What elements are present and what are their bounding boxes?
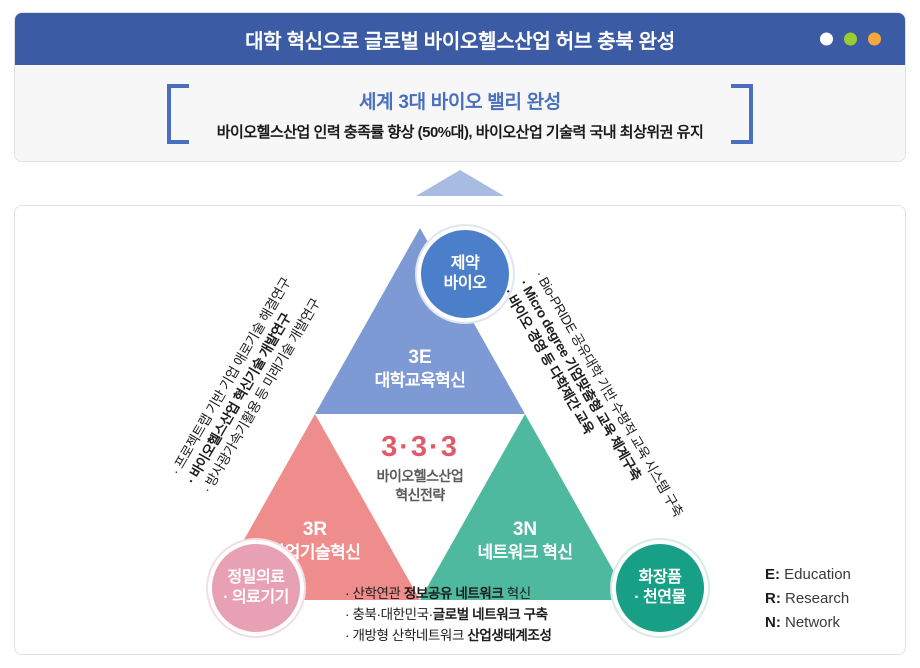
- center-strategy-block: 3·3·3 바이오헬스산업 혁신전략: [320, 433, 520, 505]
- node-precision-medicine-line2: · 의료기기: [223, 588, 289, 608]
- dot-orange-icon[interactable]: [868, 33, 881, 46]
- up-arrow-icon: [416, 170, 504, 196]
- center-subtitle-line2: 혁신전략: [320, 486, 520, 505]
- network-items-list: · 산학연관 정보공유 네트워크 혁신 · 충북·대한민국·글로벌 네트워크 구…: [345, 584, 551, 647]
- node-cosmetics-natural-line2: · 천연물: [634, 588, 685, 608]
- vision-detail: 바이오헬스산업 인력 충족률 향상 (50%대), 바이오산업 기술력 국내 최…: [217, 121, 704, 142]
- network-item-3-pre: · 개방형 산학네트워크: [345, 628, 467, 643]
- node-cosmetics-natural-line1: 화장품: [639, 568, 682, 588]
- network-item-2: · 충북·대한민국·글로벌 네트워크 구축: [345, 605, 551, 626]
- legend-value-r: Research: [781, 590, 849, 607]
- node-cosmetics-natural[interactable]: 화장품 · 천연물: [612, 540, 708, 636]
- legend-value-e: Education: [780, 566, 851, 583]
- segment-label-network: 3N 네트워크 혁신: [420, 518, 630, 563]
- subtitle-area: 세계 3대 바이오 밸리 완성 바이오헬스산업 인력 충족률 향상 (50%대)…: [15, 65, 905, 162]
- bracket-right-icon: [731, 84, 753, 144]
- dot-white-icon[interactable]: [820, 33, 833, 46]
- network-item-3: · 개방형 산학네트워크 산업생태계조성: [345, 626, 551, 647]
- network-item-1-post: 혁신: [503, 586, 530, 601]
- network-item-2-strong: 글로벌 네트워크 구축: [433, 607, 548, 622]
- segment-code-research: 3R: [210, 518, 420, 542]
- legend-value-n: Network: [781, 614, 840, 631]
- network-item-1-pre: · 산학연관: [345, 586, 404, 601]
- network-item-3-strong: 산업생태계조성: [467, 628, 551, 643]
- center-subtitle-line1: 바이오헬스산업: [320, 467, 520, 486]
- network-item-2-pre: · 충북·대한민국·: [345, 607, 433, 622]
- center-code-333: 3·3·3: [320, 433, 520, 462]
- legend-row-education: E: Education: [765, 563, 851, 587]
- segment-label-education: 3E 대학교육혁신: [315, 346, 525, 391]
- node-precision-medicine[interactable]: 정밀의료 · 의료기기: [208, 540, 304, 636]
- network-item-1-strong: 정보공유 네트워크: [404, 586, 504, 601]
- window-dots: [820, 33, 881, 46]
- legend-key-e: E:: [765, 566, 780, 583]
- node-pharma-bio-line1: 제약: [451, 254, 479, 274]
- page-title: 대학 혁신으로 글로벌 바이오헬스산업 허브 충북 완성: [245, 25, 675, 54]
- legend-row-network: N: Network: [765, 611, 851, 635]
- bracket-left-icon: [167, 84, 189, 144]
- segment-code-education: 3E: [315, 346, 525, 370]
- segment-code-network: 3N: [420, 518, 630, 542]
- node-pharma-bio-line2: 바이오: [444, 274, 487, 294]
- legend-key-r: R:: [765, 590, 781, 607]
- vision-headline: 세계 3대 바이오 밸리 완성: [359, 87, 561, 114]
- segment-name-network: 네트워크 혁신: [420, 542, 630, 563]
- dot-green-icon[interactable]: [844, 33, 857, 46]
- network-item-1: · 산학연관 정보공유 네트워크 혁신: [345, 584, 551, 605]
- legend-key-n: N:: [765, 614, 781, 631]
- legend: E: Education R: Research N: Network: [765, 563, 851, 635]
- title-bar: 대학 혁신으로 글로벌 바이오헬스산업 허브 충북 완성: [15, 13, 905, 65]
- node-precision-medicine-line1: 정밀의료: [228, 568, 285, 588]
- segment-name-education: 대학교육혁신: [315, 370, 525, 391]
- header-card: 대학 혁신으로 글로벌 바이오헬스산업 허브 충북 완성 세계 3대 바이오 밸…: [14, 12, 906, 162]
- legend-row-research: R: Research: [765, 587, 851, 611]
- node-pharma-bio[interactable]: 제약 바이오: [417, 226, 513, 322]
